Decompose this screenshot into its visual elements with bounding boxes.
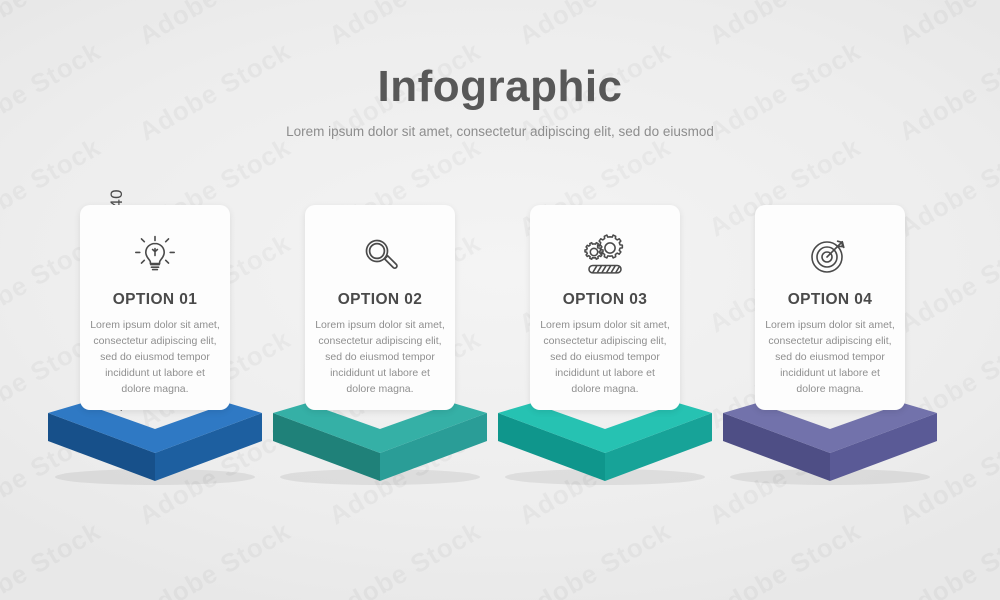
option-title: OPTION 04	[765, 291, 895, 309]
option-title: OPTION 02	[315, 291, 445, 309]
options-stage: OPTION 01Lorem ipsum dolor sit amet, con…	[0, 0, 1000, 600]
option-card[interactable]: OPTION 01Lorem ipsum dolor sit amet, con…	[80, 205, 230, 410]
chevron-base	[498, 403, 712, 485]
option-description: Lorem ipsum dolor sit amet, consectetur …	[540, 318, 670, 398]
option-title: OPTION 01	[90, 291, 220, 309]
option-description: Lorem ipsum dolor sit amet, consectetur …	[765, 318, 895, 398]
option-description: Lorem ipsum dolor sit amet, consectetur …	[315, 318, 445, 398]
gears-icon	[540, 227, 670, 283]
option-title: OPTION 03	[540, 291, 670, 309]
chevron-base	[48, 403, 262, 485]
chevron-base	[273, 403, 487, 485]
lightbulb-icon	[90, 227, 220, 283]
target-icon	[765, 227, 895, 283]
option-card[interactable]: OPTION 03Lorem ipsum dolor sit amet, con…	[530, 205, 680, 410]
chevron-base	[723, 403, 937, 485]
magnifier-icon	[315, 227, 445, 283]
option-card[interactable]: OPTION 02Lorem ipsum dolor sit amet, con…	[305, 205, 455, 410]
option-description: Lorem ipsum dolor sit amet, consectetur …	[90, 318, 220, 398]
option-card[interactable]: OPTION 04Lorem ipsum dolor sit amet, con…	[755, 205, 905, 410]
